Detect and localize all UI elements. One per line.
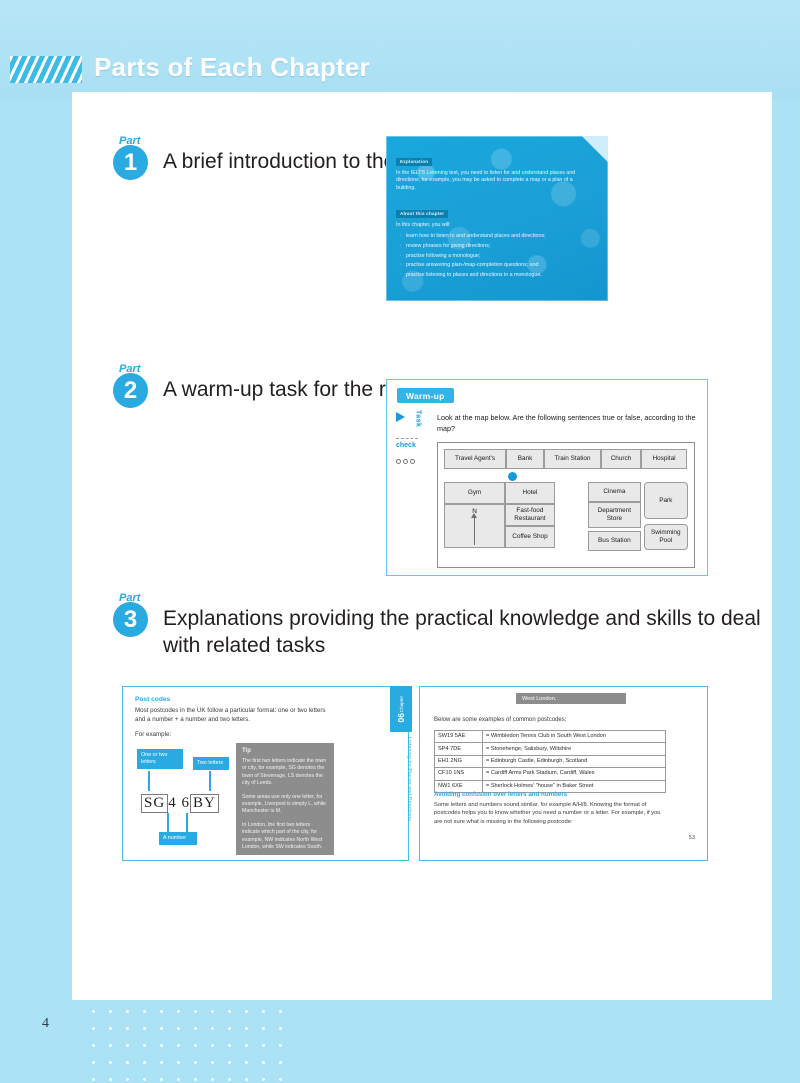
for-example-label: For example:: [135, 731, 171, 738]
spread-left-page: Post codes Most postcodes in the UK foll…: [122, 686, 409, 861]
check-dots-icon: [396, 451, 430, 469]
connector-line: [167, 813, 169, 832]
explanation-tag: Explanation: [396, 158, 432, 166]
hatch-stripes-icon: [10, 56, 82, 83]
map-cell: Train Station: [544, 449, 601, 469]
map-compass-cell: N: [444, 504, 505, 548]
part-3-label: Part: [119, 593, 175, 604]
spread-right-page: West London. Below are some examples of …: [419, 686, 708, 861]
map-cell: Coffee Shop: [505, 526, 554, 548]
map-cell: Department Store: [588, 502, 640, 528]
map-cell: Bank: [506, 449, 544, 469]
tip-paragraph: The first two letters indicate the town …: [242, 758, 328, 788]
map-cell: Hospital: [641, 449, 687, 469]
map-cell: Park: [644, 482, 688, 519]
connector-line: [186, 813, 188, 832]
table-row: SP4 7DE = Stonehenge, Salisbury, Wiltshi…: [435, 743, 666, 755]
part-1-number: 1: [113, 145, 148, 180]
map-cell: Hotel: [505, 482, 554, 504]
map-cell: Church: [601, 449, 641, 469]
part-1-screenshot: Explanation In the IELTS Listening test,…: [386, 136, 608, 301]
map-cell: Cinema: [588, 482, 640, 502]
table-row: EH1 2NG = Edinburgh Castle, Edinburgh, S…: [435, 755, 666, 767]
postcode-examples-table: SW19 5AE = Wimbledon Tennis Club in Sout…: [434, 730, 666, 793]
part-2-label: Part: [119, 364, 175, 375]
list-item: practise answering plan-/map-completion …: [396, 261, 598, 271]
table-cell-code: SW19 5AE: [435, 731, 483, 743]
chapter-tab-head: Chapter 06: [390, 686, 412, 732]
tip-box: Tip The first two letters indicate the t…: [236, 743, 334, 855]
table-row: SW19 5AE = Wimbledon Tennis Club in Sout…: [435, 731, 666, 743]
part-3-book-spread: Post codes Most postcodes in the UK foll…: [122, 686, 708, 861]
map-cell: Travel Agent's: [444, 449, 506, 469]
map-location-marker: [508, 472, 517, 481]
postcode-part-letters1: SG: [141, 794, 168, 813]
map-cell: Bus Station: [588, 531, 640, 551]
avoiding-confusion-body: Some letters and numbers sound similar, …: [434, 801, 668, 826]
west-london-strip: West London.: [516, 693, 626, 704]
list-item: learn how to listen to and understand pl…: [396, 232, 598, 242]
tip-paragraph: Some areas use only one letter, for exam…: [242, 794, 328, 816]
map-mid-block: Hotel Fast-food Restaurant Coffee Shop: [505, 482, 554, 551]
map-diagram: Travel Agent's Bank Train Station Church…: [437, 442, 695, 568]
play-triangle-icon: [396, 412, 405, 422]
warmup-question: Look at the map below. Are the following…: [437, 412, 699, 434]
table-cell-code: CF10 1NS: [435, 768, 483, 780]
about-chapter-lead: In this chapter, you will:: [396, 222, 598, 230]
postcodes-body: Most postcodes in the UK follow a partic…: [135, 706, 335, 724]
map-cell: Fast-food Restaurant: [505, 504, 554, 526]
part-1-label: Part: [119, 136, 175, 147]
part-3-title: Explanations providing the practical kno…: [163, 605, 763, 659]
connector-line: [148, 771, 150, 791]
map-cell: Gym: [444, 482, 505, 504]
chapter-tab-number: 06: [396, 713, 406, 722]
chapter-tab-word: Chapter: [399, 696, 404, 712]
north-arrow-icon: [474, 517, 475, 545]
part-3-number: 3: [113, 602, 148, 637]
postcodes-heading: Post codes: [135, 696, 170, 703]
page-number: 4: [42, 1016, 49, 1032]
part-2-number: 2: [113, 373, 148, 408]
tip-heading: Tip: [242, 748, 328, 754]
page-title: Parts of Each Chapter: [94, 52, 370, 83]
table-row: CF10 1NS = Cardiff Arms Park Stadium, Ca…: [435, 768, 666, 780]
table-cell-desc: = Wimbledon Tennis Club in South West Lo…: [483, 731, 666, 743]
map-left-block: Gym N: [444, 482, 505, 551]
map-lower-area: Gym N Hotel Fast-food Restaurant Coffee …: [438, 482, 694, 551]
table-cell-code: SP4 7DE: [435, 743, 483, 755]
label-two-letters: Two letters: [193, 757, 229, 770]
map-right-block: Cinema Department Store Bus Station: [588, 482, 640, 551]
task-marker-column: Task check: [396, 410, 430, 469]
table-cell-desc: = Cardiff Arms Park Stadium, Cardiff, Wa…: [483, 768, 666, 780]
postcode-part-num1: 4: [168, 795, 177, 811]
postcode-example: SG4 6BY: [141, 794, 219, 813]
dashed-divider: [396, 438, 418, 439]
decorative-dot-pattern: [85, 1003, 285, 1083]
table-cell-desc: = Edinburgh Castle, Edinburgh, Scotland: [483, 755, 666, 767]
inner-page-number: 53: [689, 835, 695, 841]
table-cell-desc: = Stonehenge, Salisbury, Wiltshire: [483, 743, 666, 755]
tip-paragraph: In London, the first two letters indicat…: [242, 822, 328, 852]
map-cell: Swimming Pool: [644, 524, 688, 550]
avoiding-confusion-heading: Avoiding confusion over letters and numb…: [434, 791, 567, 798]
list-item: practise listening to places and directi…: [396, 271, 598, 281]
list-item: review phrases for giving directions;: [396, 242, 598, 252]
map-top-row: Travel Agent's Bank Train Station Church…: [438, 443, 694, 469]
examples-lead: Below are some examples of common postco…: [434, 717, 566, 723]
label-a-number: A number: [159, 832, 197, 845]
map-marker-row: [438, 469, 586, 482]
label-one-or-two-letters: One or two letters: [137, 749, 183, 769]
explanation-paragraph: In the IELTS Listening test, you need to…: [396, 170, 592, 193]
list-item: practise following a monologue;: [396, 252, 598, 262]
check-label: check: [396, 442, 430, 449]
page-header: Parts of Each Chapter: [0, 52, 800, 88]
chapter-objectives-list: learn how to listen to and understand pl…: [396, 232, 598, 280]
map-far-right-block: Park Swimming Pool: [644, 482, 688, 551]
task-label: Task: [414, 410, 421, 427]
about-chapter-tag: About this chapter: [396, 210, 448, 218]
postcode-part-num2: 6: [181, 795, 190, 811]
table-cell-code: EH1 2NG: [435, 755, 483, 767]
connector-line: [209, 771, 211, 791]
warmup-badge: Warm-up: [397, 388, 454, 403]
map-gap: [555, 482, 589, 551]
part-2-screenshot: Warm-up Task check Look at the map below…: [386, 379, 708, 576]
postcode-part-letters2: BY: [190, 794, 219, 813]
chapter-tab-vertical-title: Listening for Places and Directions: [390, 732, 412, 821]
chapter-tab: Chapter 06 Listening for Places and Dire…: [390, 686, 412, 861]
